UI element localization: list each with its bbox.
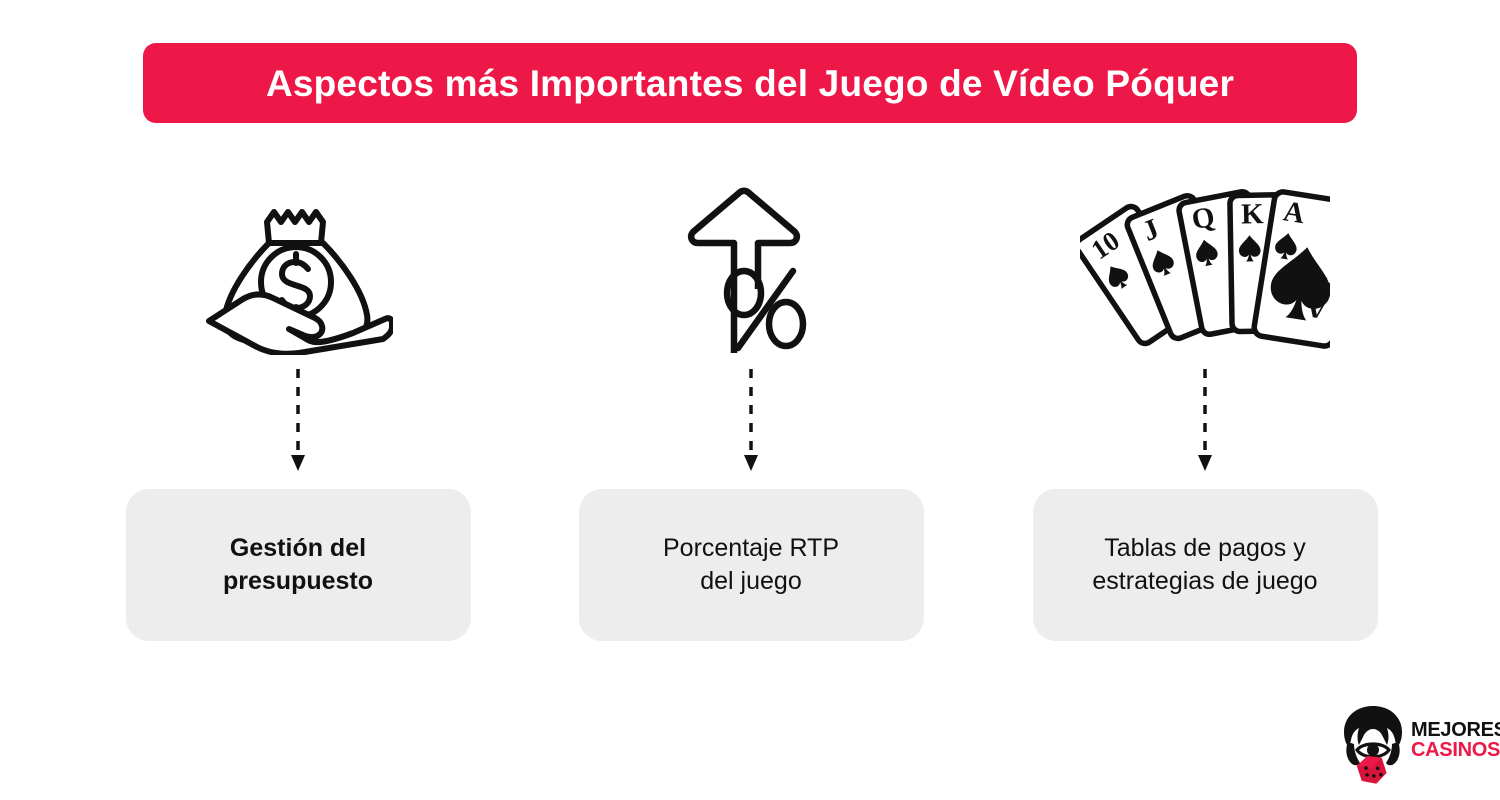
card-paytables-strategies[interactable]: Tablas de pagos y estrategias de juego <box>1033 489 1378 641</box>
card-label: Porcentaje RTP del juego <box>649 532 853 598</box>
column-rtp-percentage: Porcentaje RTP del juego <box>541 175 961 641</box>
column-budget-management: Gestión del presupuesto <box>88 175 508 641</box>
svg-text:K: K <box>1241 198 1265 230</box>
dashed-down-arrow-1 <box>286 367 310 479</box>
column-paytables-strategies: 10 J Q K <box>995 175 1415 641</box>
royal-flush-cards-icon: 10 J Q K <box>1080 180 1330 355</box>
dashed-down-arrow <box>288 369 308 477</box>
icon-slot <box>621 175 881 355</box>
brand-logo[interactable]: MEJORES CASINOS <box>1337 700 1487 786</box>
up-arrow-percent-icon <box>676 185 826 355</box>
logo-line-mejores: MEJORES <box>1411 720 1500 740</box>
card-label: Gestión del presupuesto <box>209 532 387 598</box>
icon-slot <box>168 175 428 355</box>
card-budget-management[interactable]: Gestión del presupuesto <box>126 489 471 641</box>
dashed-down-arrow-2 <box>739 367 763 479</box>
columns-container: Gestión del presupuesto Por <box>0 0 1500 800</box>
logo-line-casinos: CASINOS <box>1411 740 1500 760</box>
dashed-down-arrow <box>741 369 761 477</box>
icon-slot: 10 J Q K <box>1075 175 1335 355</box>
card-rtp-percentage[interactable]: Porcentaje RTP del juego <box>579 489 924 641</box>
card-label: Tablas de pagos y estrategias de juego <box>1078 532 1331 598</box>
logo-wordmark: MEJORES CASINOS <box>1411 720 1500 761</box>
dashed-down-arrow-3 <box>1193 367 1217 479</box>
dashed-down-arrow <box>1195 369 1215 477</box>
turban-eye-dice-logo-mark <box>1337 702 1409 784</box>
money-bag-in-hand-icon <box>203 195 393 355</box>
